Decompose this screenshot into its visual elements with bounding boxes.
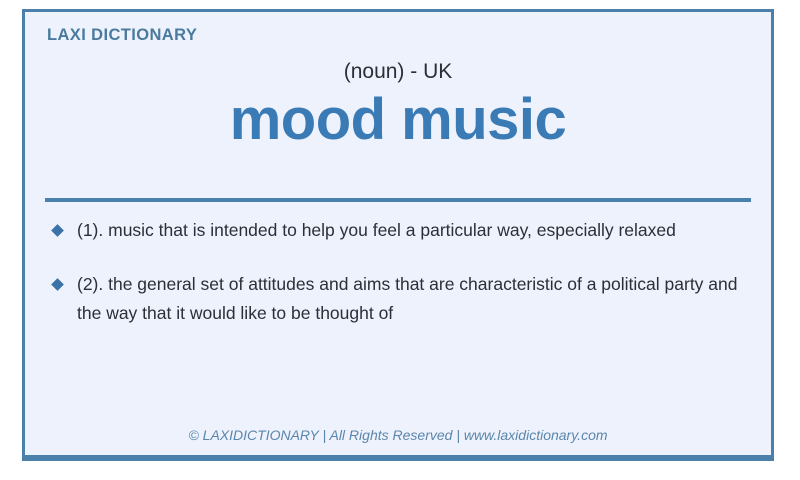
list-item: (2). the general set of attitudes and ai… bbox=[33, 270, 745, 327]
definition-text: (2). the general set of attitudes and ai… bbox=[77, 274, 738, 322]
brand-title: LAXI DICTIONARY bbox=[47, 26, 197, 45]
list-item: (1). music that is intended to help you … bbox=[33, 216, 745, 244]
footer-copyright: © LAXIDICTIONARY | All Rights Reserved |… bbox=[25, 427, 771, 443]
definition-text: (1). music that is intended to help you … bbox=[77, 220, 676, 240]
diamond-bullet-icon bbox=[51, 278, 64, 291]
part-of-speech-label: (noun) - UK bbox=[25, 60, 771, 84]
page-title: mood music bbox=[25, 88, 771, 152]
dictionary-entry-card: LAXI DICTIONARY (noun) - UK mood music (… bbox=[22, 9, 774, 461]
diamond-bullet-icon bbox=[51, 224, 64, 237]
title-divider bbox=[45, 198, 751, 202]
definition-list: (1). music that is intended to help you … bbox=[33, 216, 745, 353]
